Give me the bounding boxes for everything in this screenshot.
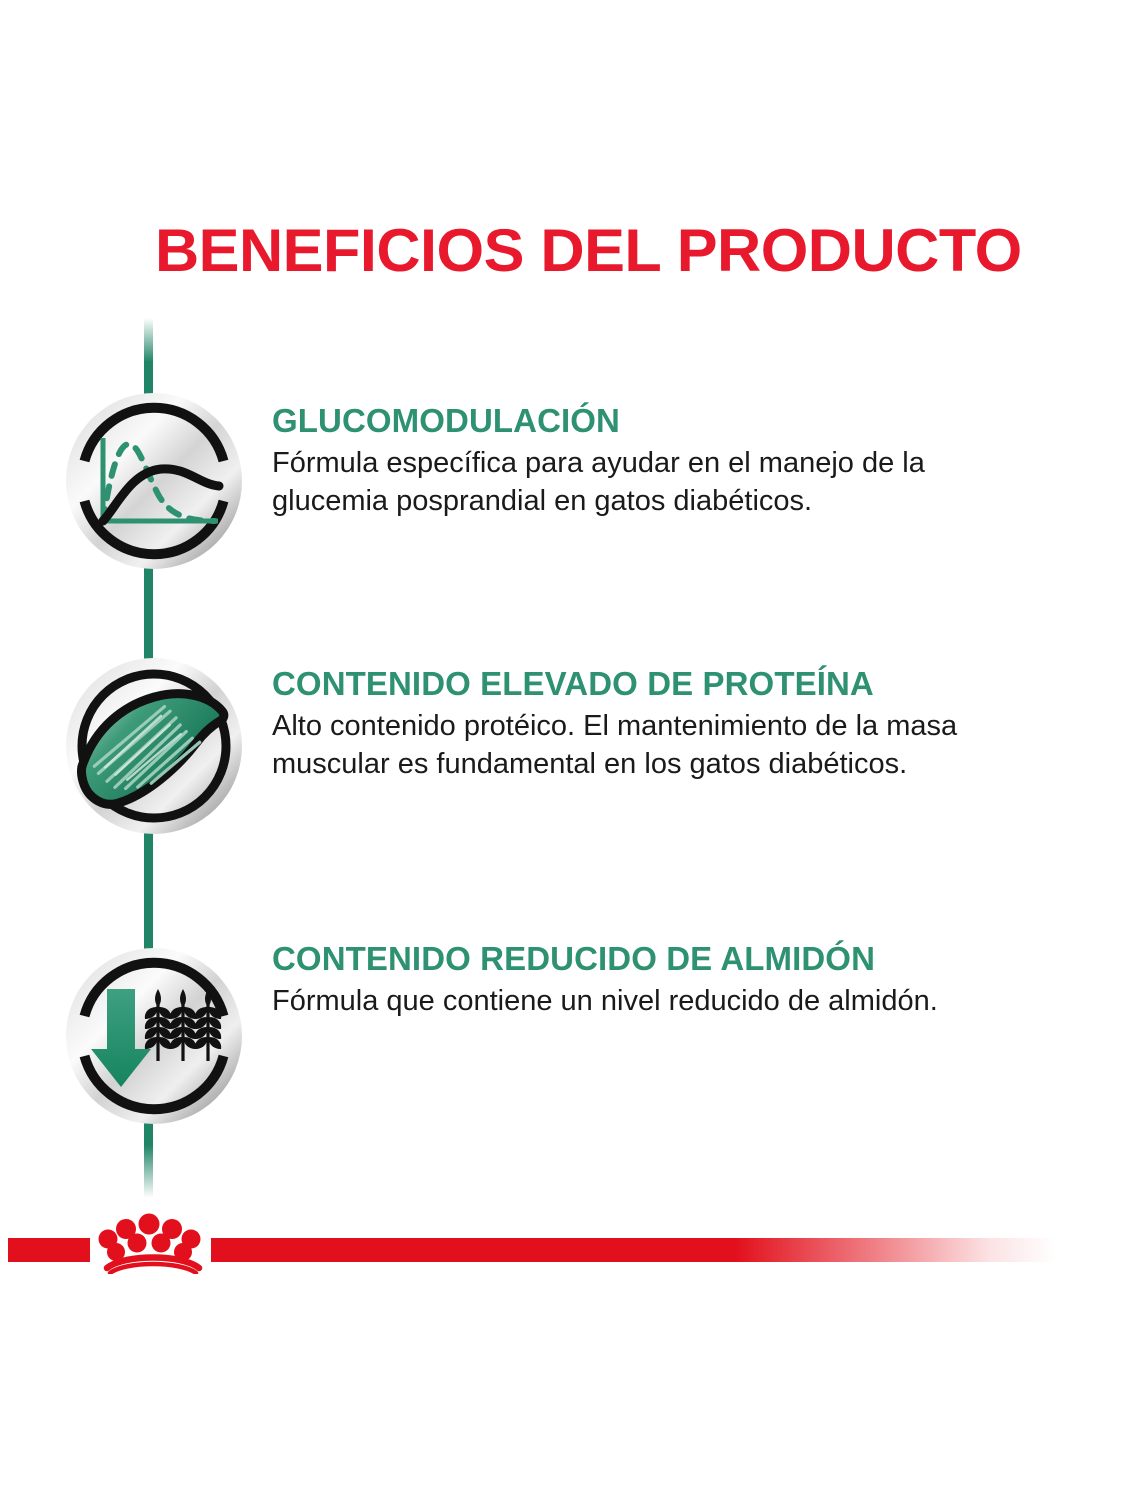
reduced-starch-icon xyxy=(63,945,245,1127)
benefit-body: Fórmula que contiene un nivel reducido d… xyxy=(272,982,1002,1020)
benefit-text-block: GLUCOMODULACIÓN Fórmula específica para … xyxy=(272,402,1012,520)
benefit-heading: GLUCOMODULACIÓN xyxy=(272,402,1012,440)
muscle-fiber-icon xyxy=(63,655,245,837)
glucose-curve-icon xyxy=(63,390,245,572)
page-title: BENEFICIOS DEL PRODUCTO xyxy=(155,218,1032,284)
benefit-heading: CONTENIDO REDUCIDO DE ALMIDÓN xyxy=(272,940,1012,978)
benefit-body: Alto contenido protéico. El mantenimient… xyxy=(272,707,1002,783)
footer-bar-left-segment xyxy=(8,1238,90,1262)
footer-bar-right-segment xyxy=(211,1238,1056,1262)
product-benefits-page: BENEFICIOS DEL PRODUCTO xyxy=(0,0,1125,1500)
royal-canin-crown-logo xyxy=(92,1212,214,1274)
benefit-text-block: CONTENIDO REDUCIDO DE ALMIDÓN Fórmula qu… xyxy=(272,940,1012,1020)
benefit-heading: CONTENIDO ELEVADO DE PROTEÍNA xyxy=(272,665,1012,703)
benefit-text-block: CONTENIDO ELEVADO DE PROTEÍNA Alto conte… xyxy=(272,665,1012,783)
benefit-body: Fórmula específica para ayudar en el man… xyxy=(272,444,1002,520)
